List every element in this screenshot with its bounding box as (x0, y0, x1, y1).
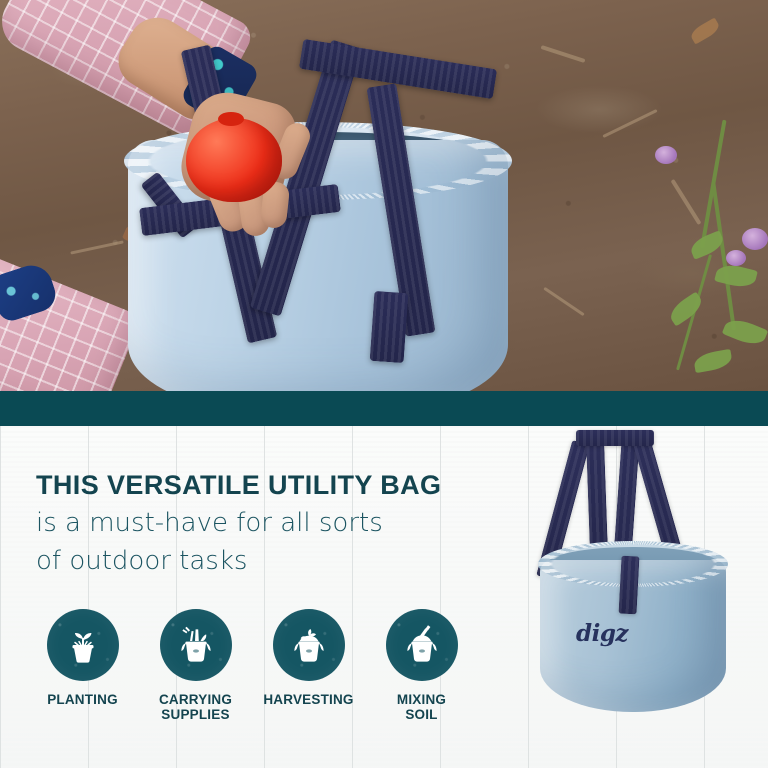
product-shot: digz (520, 426, 768, 768)
product-logo: digz (576, 620, 628, 647)
bucket-with-tools-icon (160, 609, 232, 681)
feature-label: CARRYING SUPPLIES (159, 692, 232, 723)
headline-block: THIS VERSATILE UTILITY BAG is a must-hav… (36, 471, 441, 578)
potted-plant-icon (47, 609, 119, 681)
feature-label-line2: SUPPLIES (161, 707, 229, 722)
headline-secondary-line2: of outdoor tasks (36, 545, 441, 578)
lower-info-section: THIS VERSATILE UTILITY BAG is a must-hav… (0, 426, 768, 768)
carry-strap-end (370, 291, 409, 363)
feature-carrying-supplies[interactable]: CARRYING SUPPLIES (139, 609, 252, 723)
tomato-in-hand (186, 118, 282, 202)
teal-divider-band (0, 391, 768, 426)
product-handle-top (576, 430, 654, 446)
bucket-with-trowel-icon (386, 609, 458, 681)
feature-label: HARVESTING (263, 692, 353, 707)
feature-label-line1: CARRYING (159, 692, 232, 707)
purple-flower (726, 250, 746, 266)
feature-harvesting[interactable]: HARVESTING (252, 609, 365, 723)
product-strap-front (618, 556, 639, 615)
headline-secondary-line1: is a must-have for all sorts (36, 507, 441, 540)
feature-label: PLANTING (47, 692, 118, 707)
headline-primary: THIS VERSATILE UTILITY BAG (36, 471, 441, 501)
feature-icon-row: PLANTING CARRYING SUPPLIES (26, 609, 478, 723)
feature-label: MIXING SOIL (397, 692, 446, 723)
purple-flower (655, 146, 677, 164)
feature-label-line2: SOIL (405, 707, 437, 722)
hero-photo: digz (0, 0, 768, 391)
purple-flower (742, 228, 768, 250)
bucket-with-vegetables-icon (273, 609, 345, 681)
feature-planting[interactable]: PLANTING (26, 609, 139, 723)
feature-mixing-soil[interactable]: MIXING SOIL (365, 609, 478, 723)
feature-label-line1: MIXING (397, 692, 446, 707)
